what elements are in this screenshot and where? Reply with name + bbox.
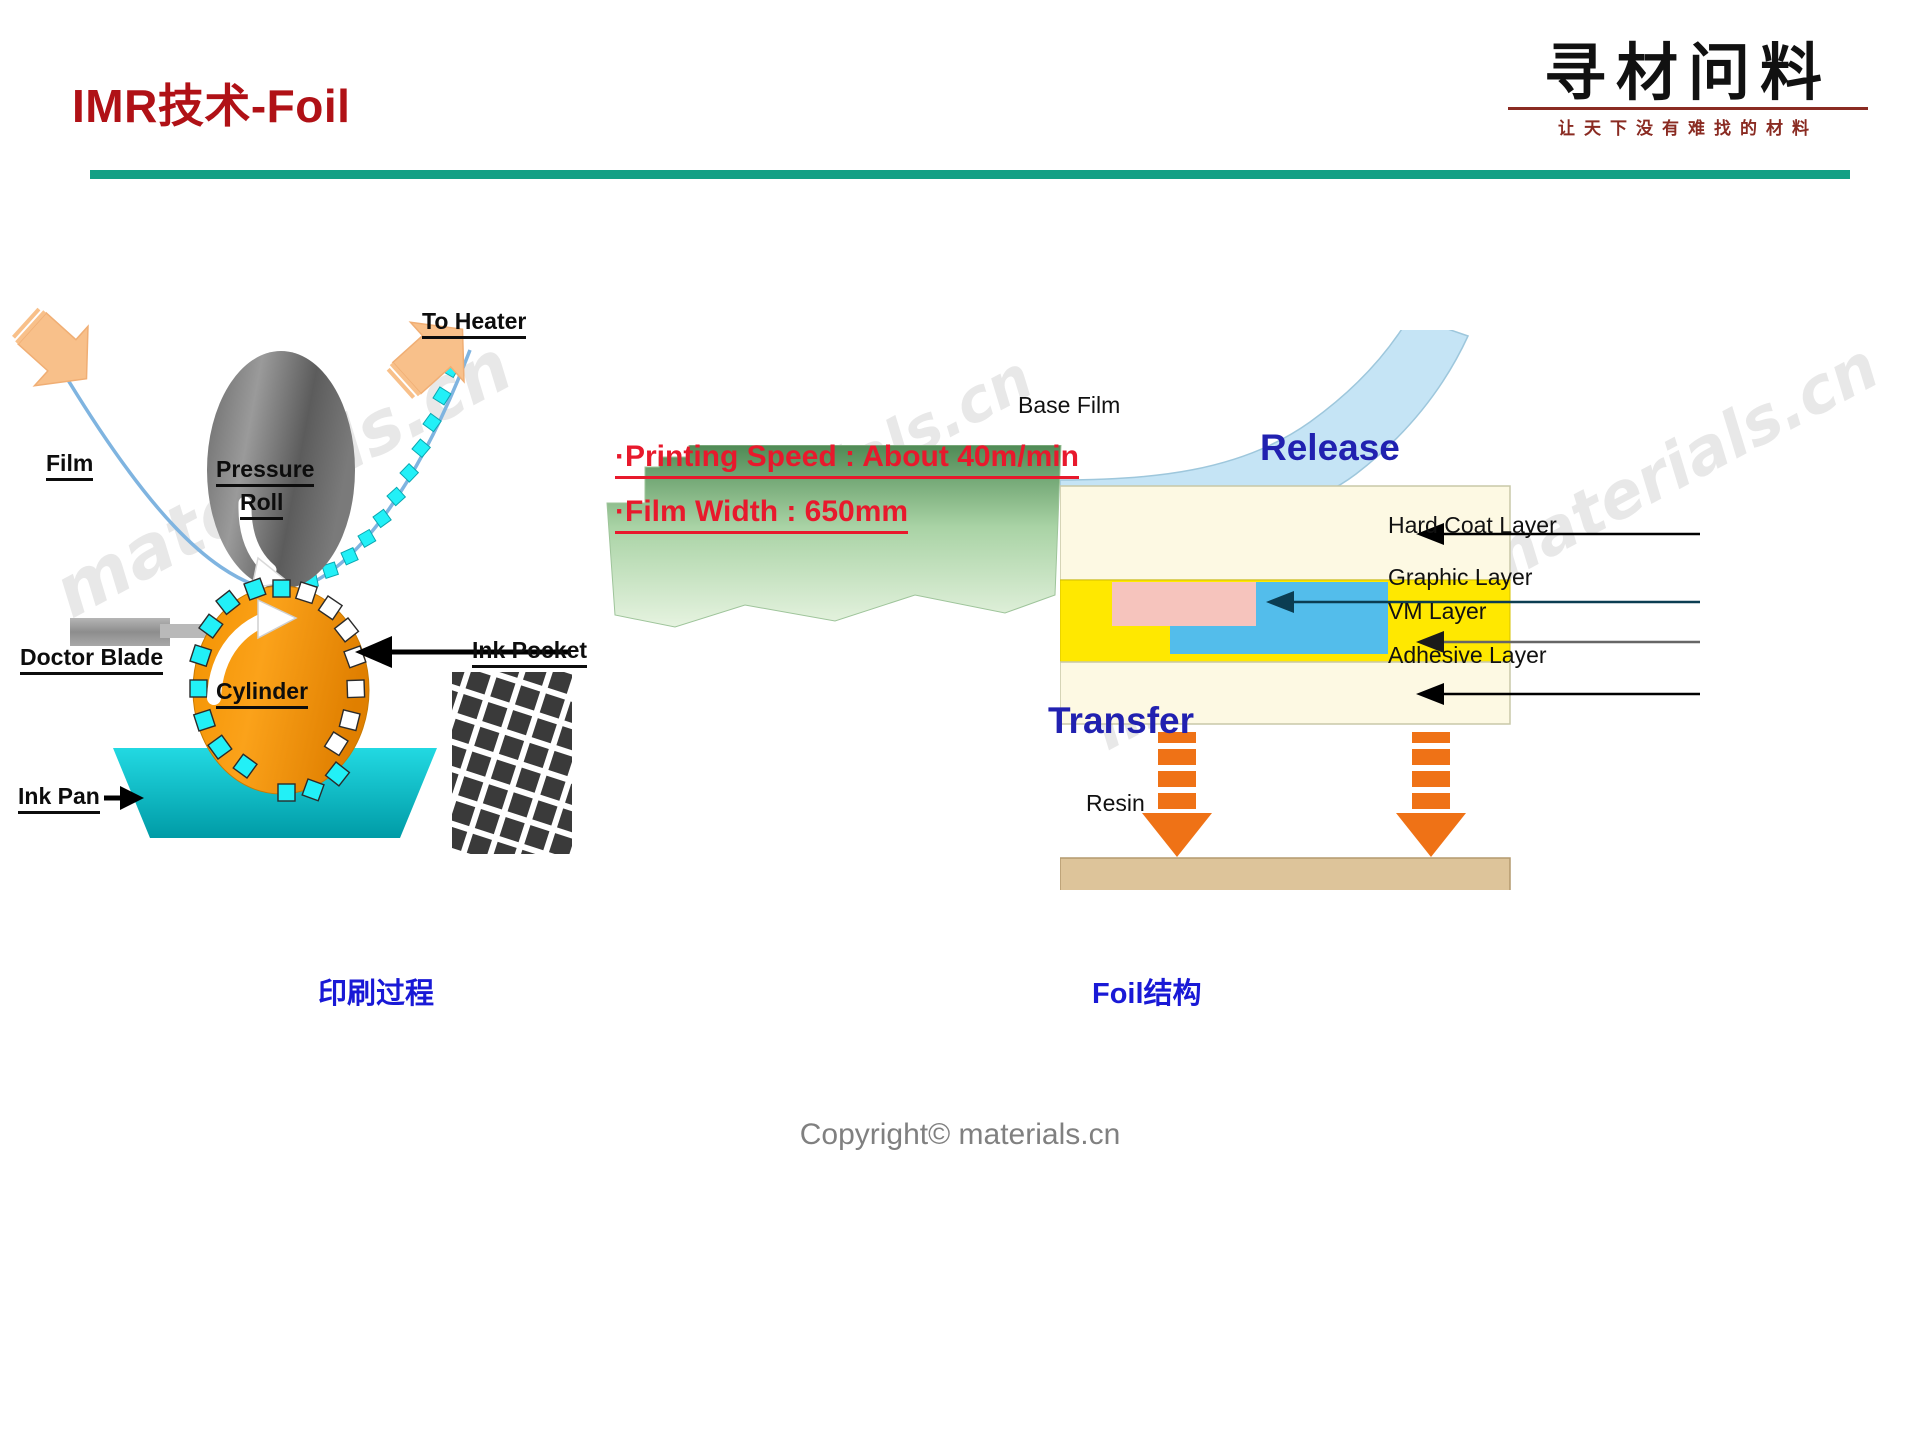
spec-line-film-width: ·Film Width : 650mm xyxy=(615,495,908,534)
spec-line-printing-speed: ·Printing Speed : About 40m/min xyxy=(615,440,1079,479)
label-release: Release xyxy=(1260,427,1400,469)
label-resin: Resin xyxy=(1086,790,1145,817)
page-title: IMR技术-Foil xyxy=(72,70,350,136)
header-divider xyxy=(90,170,1850,179)
label-pressure-roll-line2: Roll xyxy=(240,489,283,520)
label-doctor-blade: Doctor Blade xyxy=(20,644,163,675)
foil-structure-diagram xyxy=(1060,330,1920,890)
label-graphic-layer: Graphic Layer xyxy=(1388,564,1532,591)
label-base-film: Base Film xyxy=(1018,392,1120,419)
label-hard-coat-layer: Hard Coat Layer xyxy=(1388,512,1557,539)
caption-printing-process: 印刷过程 xyxy=(318,970,434,1012)
copyright-footer: Copyright© materials.cn xyxy=(0,1118,1920,1152)
brand-logo: 寻材问料 让天下没有难找的材料 xyxy=(1508,40,1868,139)
label-cylinder: Cylinder xyxy=(216,678,308,709)
logo-main-text: 寻材问料 xyxy=(1508,40,1868,105)
logo-tagline: 让天下没有难找的材料 xyxy=(1508,107,1868,139)
caption-foil-structure: Foil结构 xyxy=(1092,970,1202,1012)
label-transfer: Transfer xyxy=(1048,700,1194,742)
peach-arrow-in xyxy=(5,300,114,409)
label-adhesive-layer: Adhesive Layer xyxy=(1388,642,1547,669)
slide-root: IMR技术-Foil 寻材问料 让天下没有难找的材料 materials.cn … xyxy=(0,0,1920,1440)
label-vm-layer: VM Layer xyxy=(1388,598,1486,625)
label-ink-pocket: Ink Pocket xyxy=(472,637,587,668)
label-pressure-roll-line1: Pressure xyxy=(216,456,314,487)
label-ink-pan: Ink Pan xyxy=(18,783,100,814)
label-to-heater: To Heater xyxy=(422,308,526,339)
label-film: Film xyxy=(46,450,93,481)
